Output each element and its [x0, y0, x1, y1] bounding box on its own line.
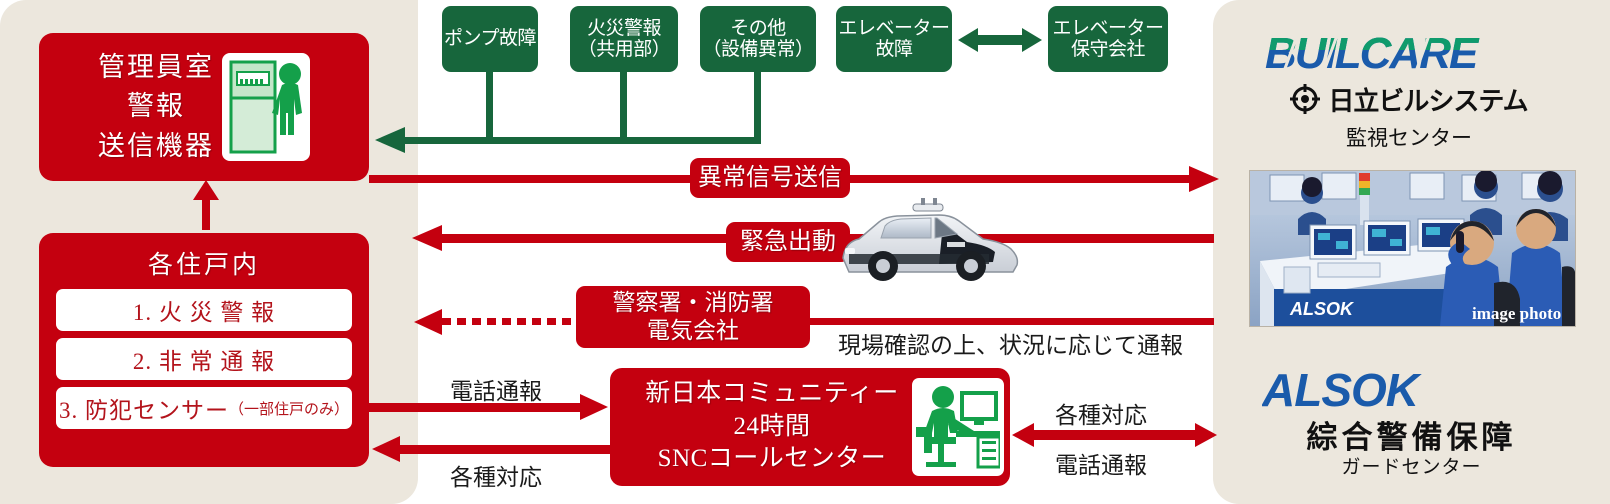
green-box-elevator-fault-line1: エレベーター	[838, 18, 949, 39]
builcare-logo: BUILCARE BUILCARE	[1265, 30, 1555, 76]
green-drop-line-pump	[486, 72, 493, 144]
photo-caption-text: image photo	[1472, 304, 1561, 323]
dwelling-item-security-sensor-label: 3. 防犯センサー	[59, 391, 229, 425]
police-fire-line2: 電気会社	[613, 317, 774, 345]
green-box-fire-alarm[interactable]: 火災警報 （共用部）	[570, 6, 678, 72]
dwelling-box-title: 各住戸内	[148, 245, 260, 281]
green-box-elevator-fault[interactable]: エレベーター 故障	[836, 6, 952, 72]
dwelling-item-fire-alarm-label: 1. 火 災 警 報	[133, 293, 275, 327]
police-fire-line1: 警察署・消防署	[613, 289, 774, 317]
emergency-dispatch-label: 緊急出動	[726, 222, 850, 262]
green-box-elevator-maintainer[interactable]: エレベーター 保守会社	[1048, 6, 1168, 72]
manager-room-label: 管理員室 警報 送信機器	[98, 48, 214, 165]
phone-report-right-label: 電話通報	[1055, 446, 1147, 480]
arrowhead-police-report	[414, 309, 442, 335]
green-horizontal-bus	[405, 137, 761, 144]
green-box-other[interactable]: その他 （設備異常）	[700, 6, 816, 72]
green-box-other-line2: （設備異常）	[702, 39, 813, 60]
dwelling-item-emergency-report-label: 2. 非 常 通 報	[133, 342, 275, 376]
snc-line2: 24時間	[632, 411, 912, 444]
police-fire-electric-label: 警察署・消防署 電気会社	[576, 286, 810, 348]
green-box-fire-alarm-line2: （共用部）	[578, 39, 671, 60]
svg-text:ALSOK: ALSOK	[1262, 368, 1422, 412]
manager-room-line3: 送信機器	[98, 127, 214, 166]
monitoring-center-photo: ALSOK image photo	[1249, 170, 1576, 327]
green-box-other-line1: その他	[702, 18, 813, 39]
dwelling-item-security-sensor-note: （一部住戸のみ）	[229, 398, 349, 419]
snc-call-center-label: 新日本コミュニティー 24時間 SNCコールセンター	[632, 378, 912, 476]
green-box-pump[interactable]: ポンプ故障	[442, 6, 538, 72]
hitachi-target-icon	[1290, 84, 1320, 114]
green-drop-line-other	[754, 72, 761, 144]
manager-room-box[interactable]: 管理員室 警報 送信機器	[39, 33, 369, 181]
green-drop-line-fire-alarm	[620, 72, 627, 144]
manager-room-line1: 管理員室	[98, 48, 214, 87]
arrowhead-phone-report-to-snc	[580, 394, 608, 420]
green-box-elevator-maintainer-line1: エレベーター	[1052, 18, 1163, 39]
various-response-right-label: 各種対応	[1055, 396, 1147, 430]
green-box-fire-alarm-line1: 火災警報	[578, 18, 671, 39]
arrowhead-various-response-to-dwelling	[372, 436, 400, 462]
snc-line1: 新日本コミュニティー	[632, 378, 912, 411]
alarm-transmitter-icon	[222, 53, 310, 161]
abnormal-signal-label: 異常信号送信	[690, 158, 850, 198]
arrowhead-abnormal-signal	[1189, 166, 1219, 192]
dwelling-item-emergency-report[interactable]: 2. 非 常 通 報	[56, 338, 352, 380]
site-check-line	[810, 318, 1214, 325]
snc-line3: SNCコールセンター	[632, 443, 912, 476]
green-box-elevator-maintainer-line2: 保守会社	[1052, 39, 1163, 60]
arrowhead-emergency-dispatch	[412, 225, 442, 251]
hitachi-building-systems-label: 日立ビルシステム	[1328, 81, 1527, 118]
various-response-to-dwelling-line	[400, 445, 614, 454]
elevator-bidirectional-arrow	[958, 26, 1042, 54]
alsok-japanese-name: 綜合警備保障	[1249, 412, 1574, 457]
various-response-left-label: 各種対応	[450, 458, 542, 492]
patrol-car-photo	[835, 196, 1025, 288]
site-check-label: 現場確認の上、状況に応じて通報	[838, 326, 1183, 360]
green-box-elevator-fault-line2: 故障	[838, 39, 949, 60]
diagram-canvas: ポンプ故障 火災警報 （共用部） その他 （設備異常） エレベーター 故障 エレ…	[0, 0, 1610, 504]
monitoring-center-label: 監視センター	[1249, 122, 1569, 152]
alsok-logo: ALSOK	[1262, 368, 1562, 412]
operator-at-desk-icon	[912, 378, 1004, 476]
dwelling-item-security-sensor[interactable]: 3. 防犯センサー（一部住戸のみ）	[56, 387, 352, 429]
photo-desk-brand: ALSOK	[1289, 299, 1355, 319]
snc-call-center-box[interactable]: 新日本コミュニティー 24時間 SNCコールセンター	[610, 368, 1010, 486]
dwelling-box[interactable]: 各住戸内 1. 火 災 警 報 2. 非 常 通 報 3. 防犯センサー（一部住…	[39, 233, 369, 467]
arrowhead-to-manager-box	[193, 180, 219, 200]
green-arrowhead-to-manager	[375, 127, 405, 153]
alsok-guard-center-label: ガードセンター	[1249, 452, 1574, 479]
green-box-pump-line1: ポンプ故障	[444, 28, 536, 49]
dwelling-item-fire-alarm[interactable]: 1. 火 災 警 報	[56, 289, 352, 331]
dwelling-to-manager-line	[202, 196, 210, 236]
police-dashed-line	[442, 318, 578, 325]
hitachi-building-systems-row: 日立ビルシステム	[1249, 82, 1569, 116]
manager-room-line2: 警報	[98, 87, 214, 126]
phone-report-left-label: 電話通報	[450, 372, 542, 406]
